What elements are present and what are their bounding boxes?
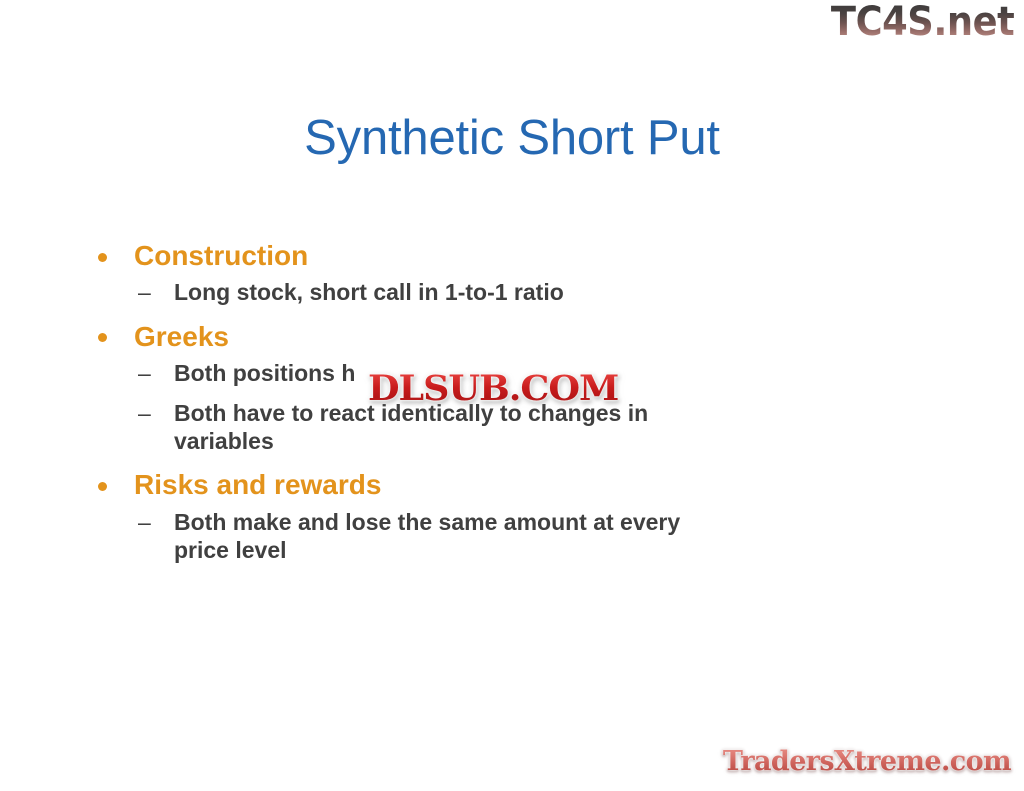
bullet-heading-label: Greeks [134,321,229,352]
bullet-dot-icon [98,253,107,262]
dash-icon: – [138,359,151,387]
tc4s-brand-logo: TC4S.net [831,2,1014,42]
presentation-slide: TC4S.net Synthetic Short Put Constructio… [0,0,1024,791]
bullet-dot-icon [98,333,107,342]
page-title: Synthetic Short Put [0,112,1024,166]
sub-bullet-item: – Both make and lose the same amount at … [88,508,719,564]
bullet-heading-greeks: Greeks [88,321,788,353]
dash-icon: – [138,508,151,536]
dash-icon: – [138,399,151,427]
bullet-heading-construction: Construction [88,240,788,272]
bullet-group-construction: Construction – Long stock, short call in… [88,240,788,307]
bullet-heading-label: Construction [134,240,308,271]
sub-bullet-item: – Long stock, short call in 1-to-1 ratio [88,278,788,306]
tradersxtreme-watermark: TradersXtreme.com [723,747,1011,777]
dash-icon: – [138,278,151,306]
sub-bullet-label: Both positions h [174,360,355,386]
sub-bullet-label: Both make and lose the same amount at ev… [174,509,680,563]
dlsub-watermark: DLSUB.COM [368,367,618,411]
bullet-heading-label: Risks and rewards [134,469,381,500]
bullet-group-risks-and-rewards: Risks and rewards – Both make and lose t… [88,469,788,564]
sub-bullet-label: Long stock, short call in 1-to-1 ratio [174,279,564,305]
bullet-dot-icon [98,482,107,491]
bullet-heading-risks-and-rewards: Risks and rewards [88,469,788,501]
